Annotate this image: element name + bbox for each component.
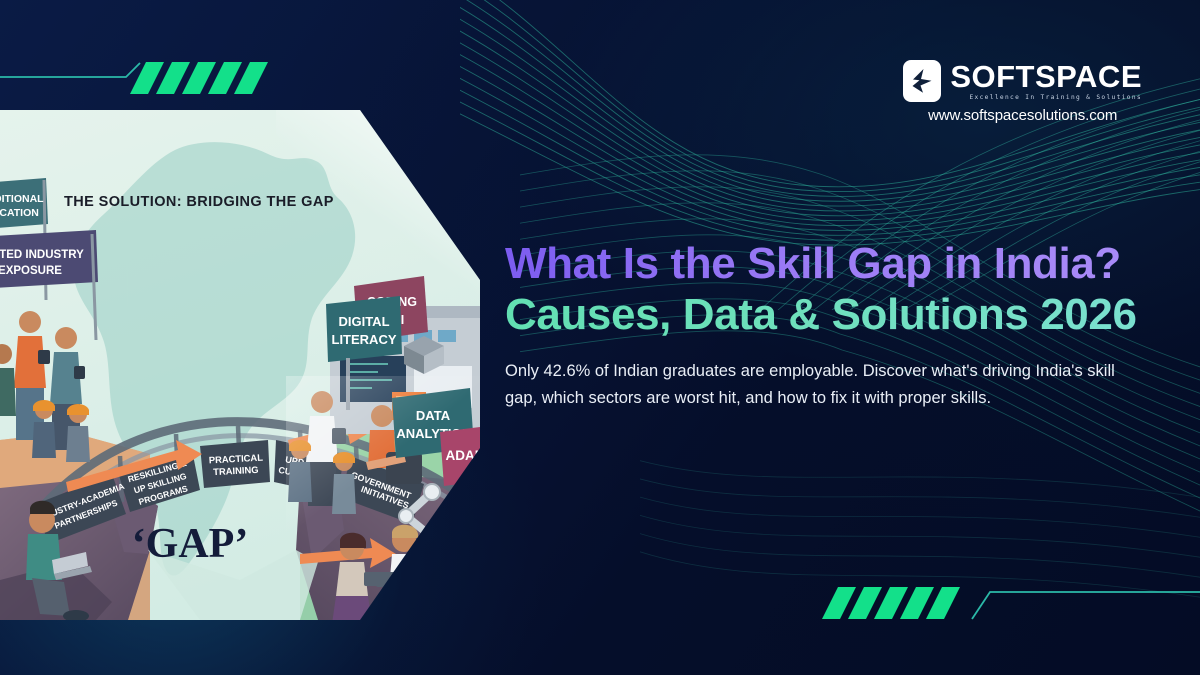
svg-text:DATA: DATA [416,408,451,423]
page-subtitle: Only 42.6% of Indian graduates are emplo… [505,358,1139,411]
logo-website-url[interactable]: www.softspacesolutions.com [928,107,1117,124]
gap-label: ‘GAP’ [132,521,249,567]
chevron-stripes-left-icon [0,58,270,104]
brand-logo[interactable]: SOFTSPACE Excellence In Training & Solut… [903,60,1142,124]
svg-text:TRADITIONAL: TRADITIONAL [0,193,44,205]
page-title: What Is the Skill Gap in India? Causes, … [505,238,1185,340]
bolt-glyph-icon [910,68,934,94]
sign-adaptability: ADAPTAB [440,422,480,486]
corner-decoration-top-left [0,58,270,104]
logo-tagline: Excellence In Training & Solutions [969,95,1142,101]
svg-text:DIGITAL: DIGITAL [338,314,389,329]
illustration-heading: THE SOLUTION: BRIDGING THE GAP [64,194,334,210]
logo-text-group: SOFTSPACE Excellence In Training & Solut… [950,61,1142,101]
svg-text:LIMITED INDUSTRY: LIMITED INDUSTRY [0,249,84,261]
title-line-1: What Is the Skill Gap in India? [505,238,1185,289]
bridging-the-gap-illustration-icon: INDUSTRY-ACADEMIA PARTNERSHIPS RESKILLIN… [0,110,480,620]
banner-root: INDUSTRY-ACADEMIA PARTNERSHIPS RESKILLIN… [0,0,1200,675]
svg-text:ADAPTAB: ADAPTAB [446,448,481,463]
svg-text:EDUCATION: EDUCATION [0,207,39,219]
logo-name: SOFTSPACE [950,61,1142,92]
svg-text:EXPOSURE: EXPOSURE [0,265,62,277]
chevron-stripes-right-icon [800,579,1200,625]
skill-gap-illustration: INDUSTRY-ACADEMIA PARTNERSHIPS RESKILLIN… [0,110,480,620]
title-line-2: Causes, Data & Solutions 2026 [505,289,1185,340]
headline-block: What Is the Skill Gap in India? Causes, … [505,238,1185,412]
wave-mesh-bottom-icon [640,415,1200,675]
svg-text:LITERACY: LITERACY [332,332,397,347]
corner-decoration-bottom-right [800,579,1200,625]
logo-row: SOFTSPACE Excellence In Training & Solut… [903,60,1142,102]
softspace-bolt-mark-icon [903,60,941,102]
